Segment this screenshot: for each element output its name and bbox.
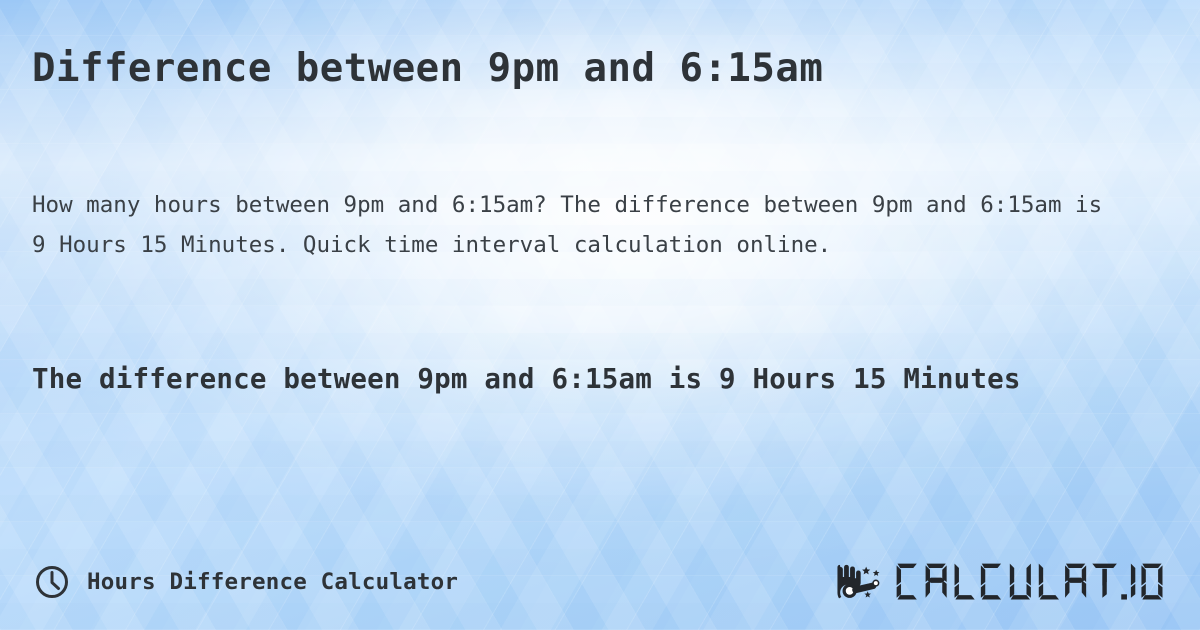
footer: Hours Difference Calculator [0,534,1200,630]
logo-wordmark: CALCULAT.IO [894,560,1166,604]
result-heading: The difference between 9pm and 6:15am is… [32,355,1072,403]
site-logo[interactable]: CALCULAT.IO [832,560,1166,604]
clock-icon [34,564,70,600]
content-area: Difference between 9pm and 6:15am How ma… [0,0,1200,630]
magic-wand-hand-icon [832,562,888,602]
intro-paragraph: How many hours between 9pm and 6:15am? T… [32,185,1107,265]
footer-brand-label: Hours Difference Calculator [87,569,458,595]
footer-brand[interactable]: Hours Difference Calculator [34,564,458,600]
page-title: Difference between 9pm and 6:15am [32,46,823,91]
share-card: Difference between 9pm and 6:15am How ma… [0,0,1200,630]
